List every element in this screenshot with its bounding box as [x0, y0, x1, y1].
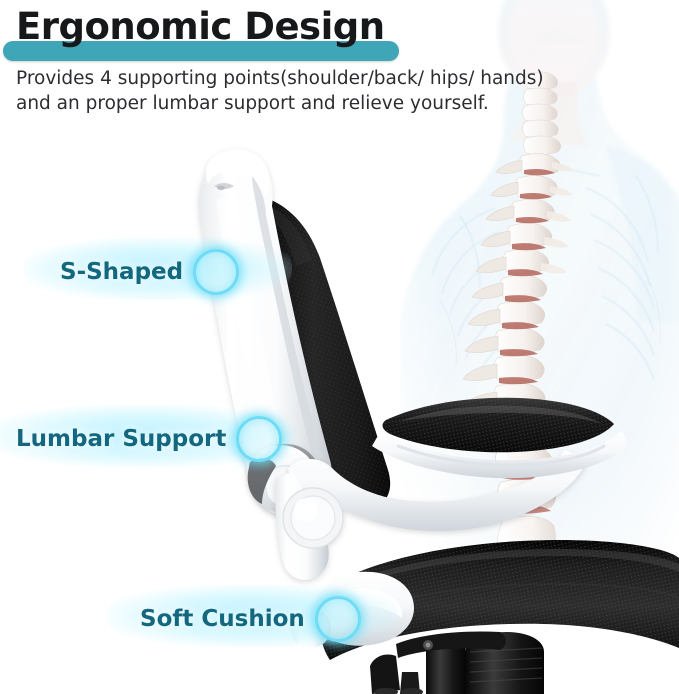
glow-ring-marker-3 [315, 596, 361, 642]
callout-lumbar-support: Lumbar Support [16, 416, 282, 462]
gas-lift-cylinder [370, 632, 544, 694]
page-subtitle: Provides 4 supporting points(shoulder/ba… [16, 66, 616, 116]
callout-label-soft-cushion: Soft Cushion [140, 606, 305, 632]
seat-cushion [320, 540, 679, 660]
flip-up-armrest [275, 450, 588, 580]
callout-s-shaped: S-Shaped [60, 249, 239, 295]
callout-label-lumbar-support: Lumbar Support [16, 426, 226, 452]
glow-ring-marker-2 [236, 416, 282, 462]
armrest-pad [372, 398, 628, 478]
page-title: Ergonomic Design [16, 8, 385, 47]
backrest-mesh [262, 196, 390, 511]
callout-soft-cushion: Soft Cushion [140, 596, 361, 642]
callout-label-s-shaped: S-Shaped [60, 259, 183, 285]
product-infographic: Ergonomic Design Provides 4 supporting p… [0, 0, 679, 694]
glow-ring-marker-1 [193, 249, 239, 295]
